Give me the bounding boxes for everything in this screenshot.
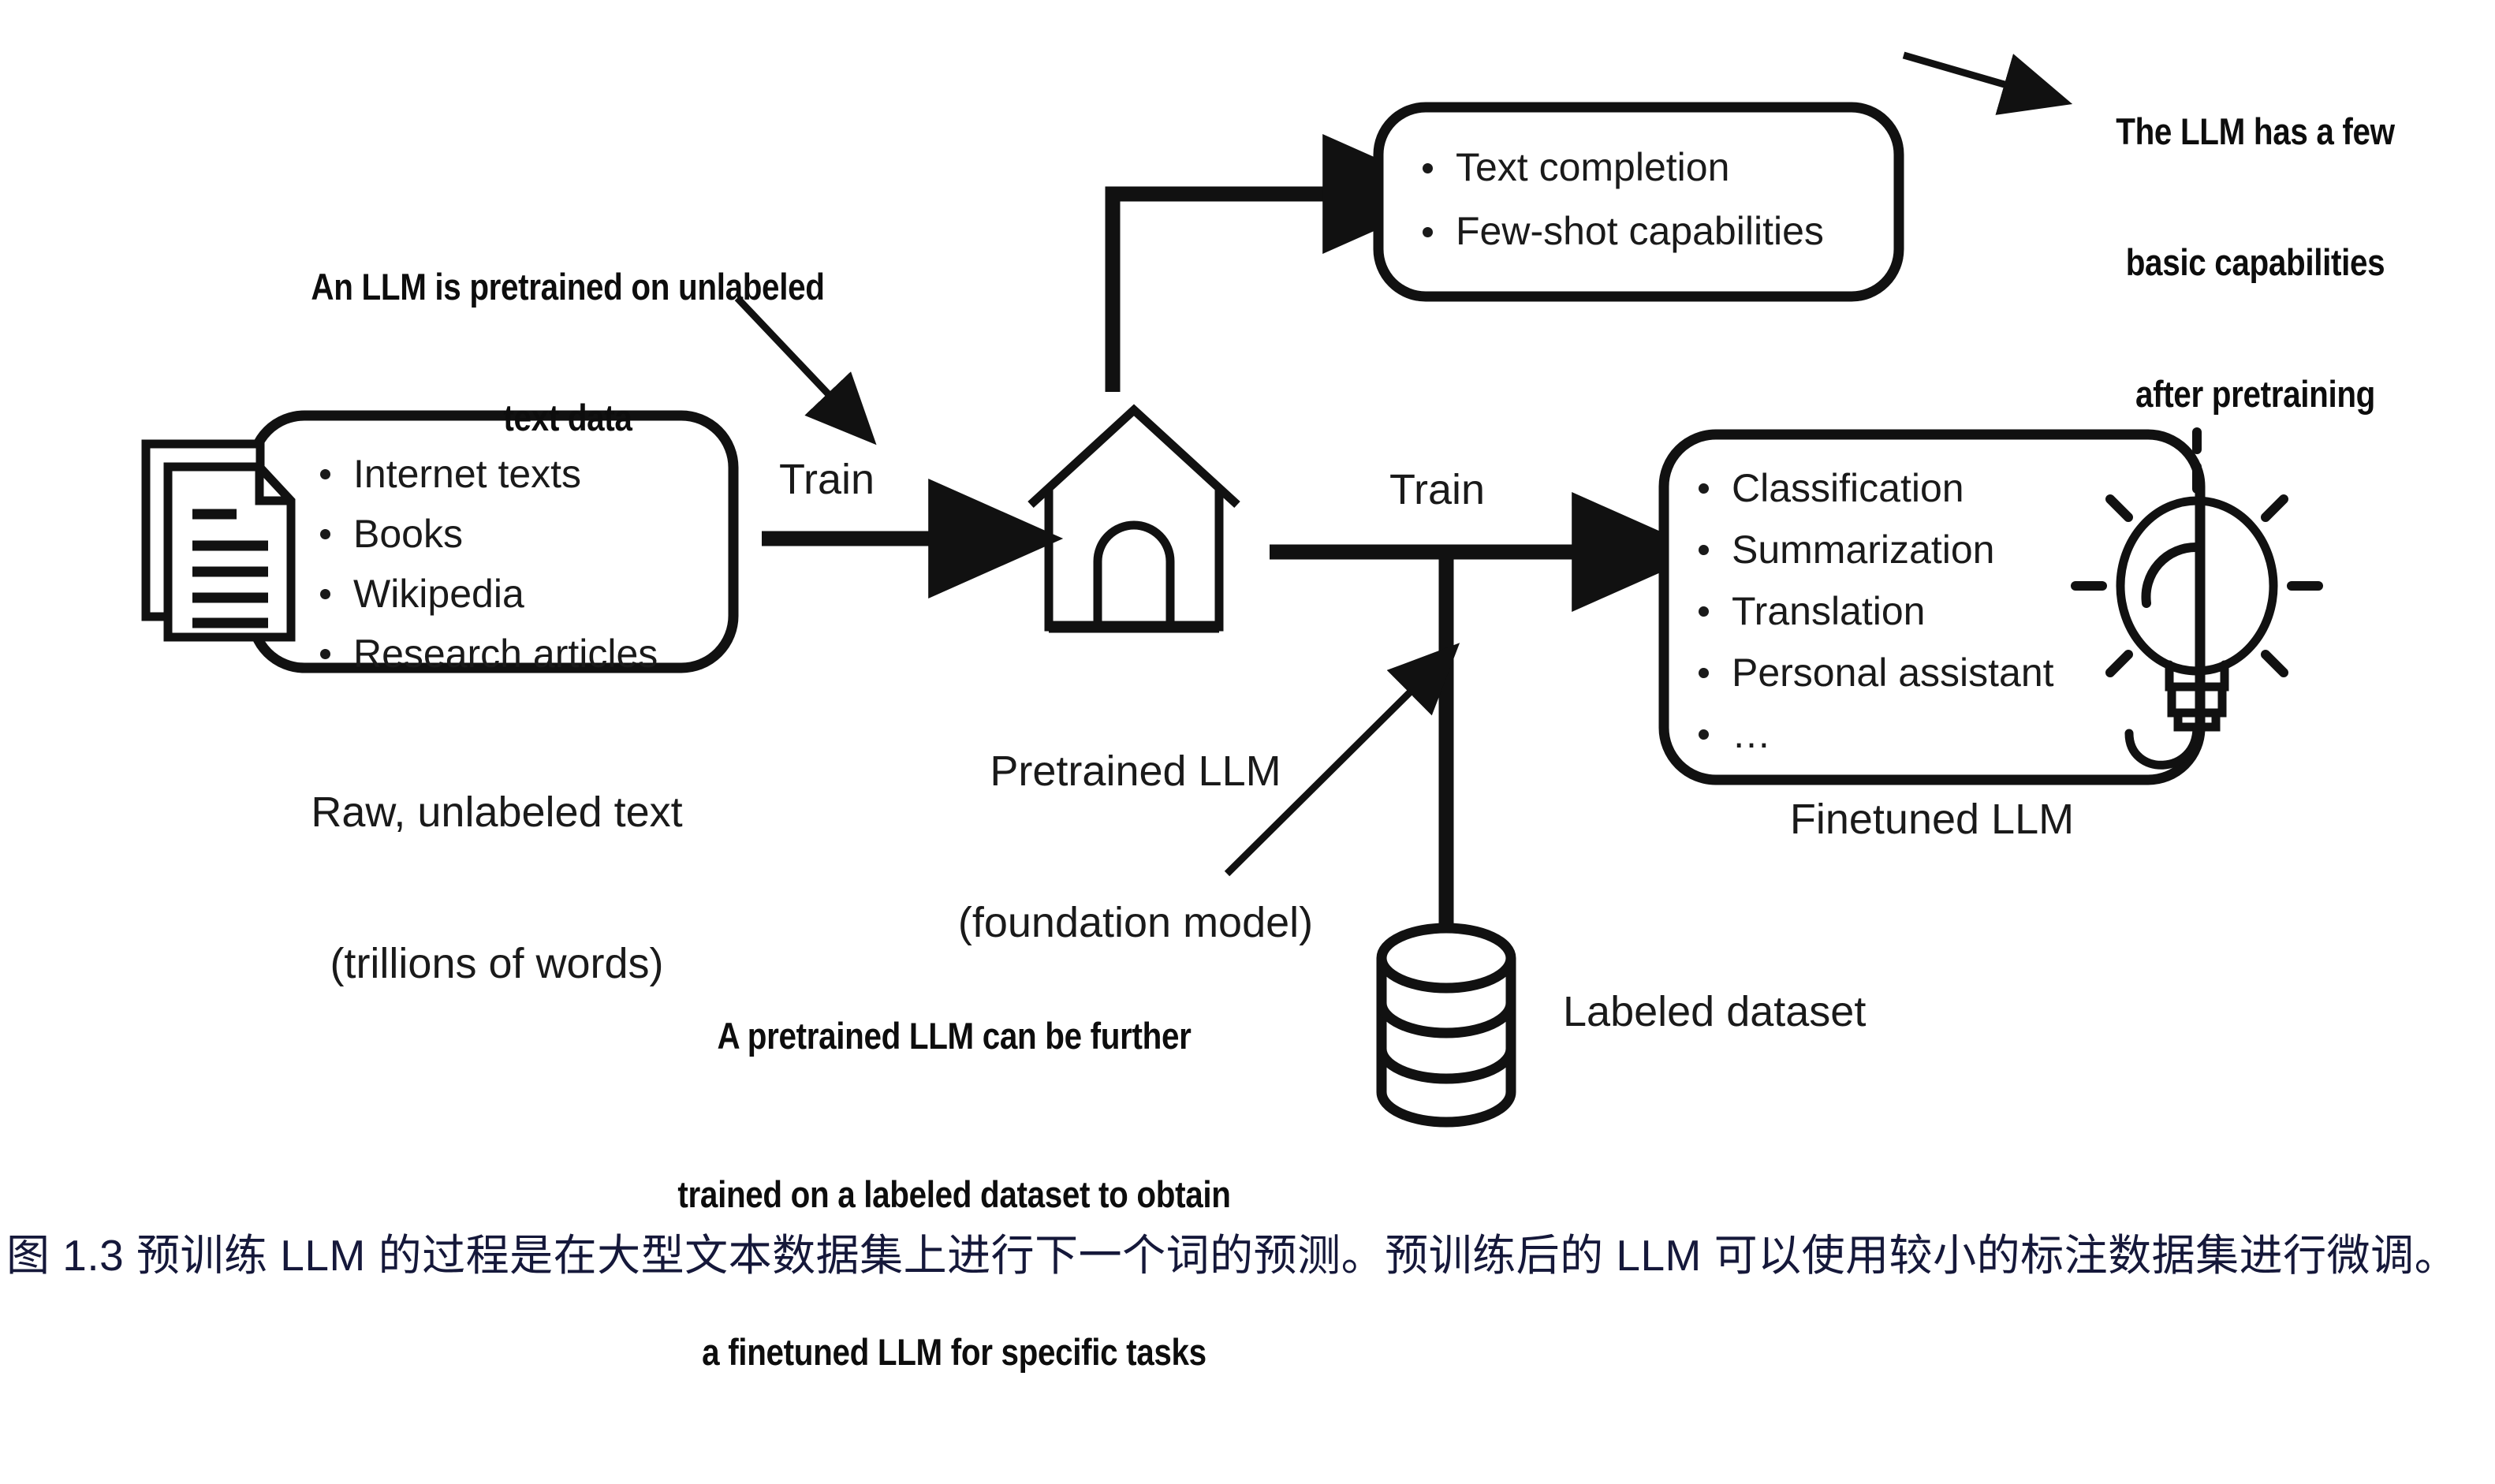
house-icon — [1031, 410, 1237, 627]
annotation-pretrain-line-1: An LLM is pretrained on unlabeled — [283, 265, 852, 308]
figure-canvas: An LLM is pretrained on unlabeled text d… — [0, 0, 2495, 1359]
list-item: Summarization — [1688, 519, 2161, 580]
annotation-finetune-line-2: trained on a labeled dataset to obtain — [669, 1169, 1239, 1221]
list-item: Wikipedia — [309, 564, 735, 624]
finetuned-llm-label: Finetuned LLM — [1664, 795, 2200, 845]
list-item: Books — [309, 504, 735, 564]
finetuned-llm-list: Classification Summarization Translation… — [1688, 457, 2161, 765]
branch-arrow-base-capabilities — [1113, 194, 1341, 392]
annotation-capabilities-note: The LLM has a few basic capabilities aft… — [2049, 22, 2463, 503]
raw-data-label-line-2: (trillions of words) — [252, 939, 741, 990]
pretrained-llm-label-line-2: (foundation model) — [895, 898, 1376, 949]
list-item: Translation — [1688, 580, 2161, 642]
documents-icon — [146, 444, 291, 637]
list-item: Research articles — [309, 624, 735, 684]
list-item: Personal assistant — [1688, 642, 2161, 703]
annotation-capabilities-line-1: The LLM has a few — [2049, 110, 2463, 153]
pretrained-llm-label-line-1: Pretrained LLM — [895, 747, 1376, 797]
list-item: Classification — [1688, 457, 2161, 519]
list-item: Text completion — [1412, 136, 1885, 199]
train-label-finetune: Train — [1389, 465, 1485, 516]
figure-caption: 图 1.3 预训练 LLM 的过程是在大型文本数据集上进行下一个词的预测。预训练… — [6, 1224, 2490, 1288]
list-item: Few-shot capabilities — [1412, 199, 1885, 263]
database-icon — [1382, 928, 1511, 1122]
list-item: … — [1688, 703, 2161, 765]
labeled-dataset-label: Labeled dataset — [1563, 987, 1866, 1038]
list-item: Internet texts — [309, 444, 735, 504]
annotation-arrow-capabilities — [1904, 55, 2018, 88]
train-label-pretrain: Train — [779, 455, 875, 505]
annotation-capabilities-line-2: basic capabilities — [2049, 240, 2463, 284]
pretrained-llm-label: Pretrained LLM (foundation model) — [895, 647, 1376, 1049]
base-capabilities-list: Text completion Few-shot capabilities — [1412, 136, 1885, 263]
raw-data-label-line-1: Raw, unlabeled text — [252, 788, 741, 838]
annotation-finetune-line-3: a finetuned LLM for specific tasks — [669, 1326, 1239, 1379]
annotation-capabilities-line-3: after pretraining — [2049, 372, 2463, 416]
annotation-pretrain-line-2: text data — [283, 396, 852, 439]
raw-data-label: Raw, unlabeled text (trillions of words) — [252, 688, 741, 1090]
raw-data-list: Internet texts Books Wikipedia Research … — [309, 444, 735, 684]
